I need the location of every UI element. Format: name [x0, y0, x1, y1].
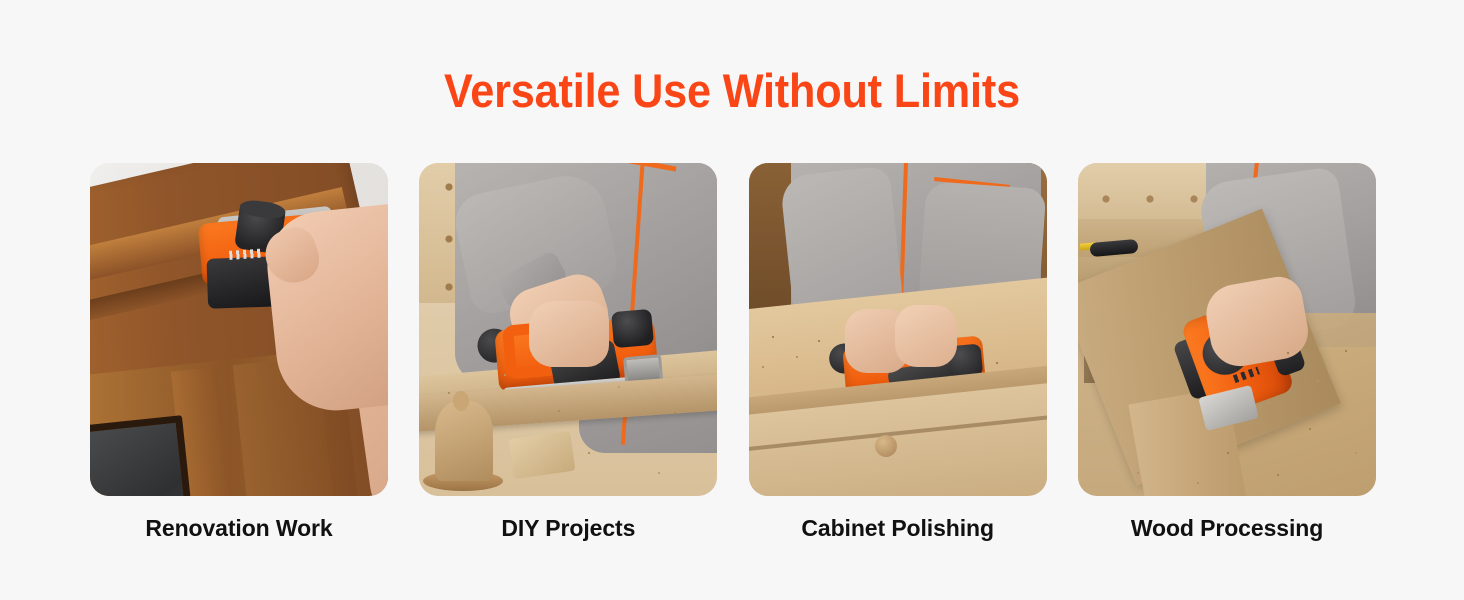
feature-card-caption: DIY Projects — [419, 513, 717, 543]
carved-figurine — [435, 401, 493, 481]
feature-card-wood-processing[interactable]: Wood Processing — [1078, 163, 1376, 496]
photo-renovation-work — [90, 163, 388, 496]
feature-card-cabinet-polishing[interactable]: Cabinet Polishing — [749, 163, 1047, 496]
feature-card-caption: Wood Processing — [1078, 513, 1376, 543]
feature-card-diy-projects[interactable]: DIY Projects — [419, 163, 717, 496]
feature-card-caption: Renovation Work — [90, 513, 388, 543]
planer-depth-knob — [611, 309, 654, 348]
photo-cabinet-polishing — [749, 163, 1047, 496]
photo-wood-processing — [1078, 163, 1376, 496]
feature-card-grid: Renovation Work — [90, 163, 1376, 496]
product-feature-banner: Versatile Use Without Limits — [0, 0, 1464, 600]
hand-right — [895, 305, 957, 367]
page-title: Versatile Use Without Limits — [59, 63, 1406, 119]
feature-card-caption: Cabinet Polishing — [749, 513, 1047, 543]
feature-card-renovation-work[interactable]: Renovation Work — [90, 163, 388, 496]
drawer-knob — [875, 435, 897, 457]
door-glass-pane — [90, 415, 198, 496]
photo-diy-projects — [419, 163, 717, 496]
sawdust — [1078, 333, 1376, 496]
